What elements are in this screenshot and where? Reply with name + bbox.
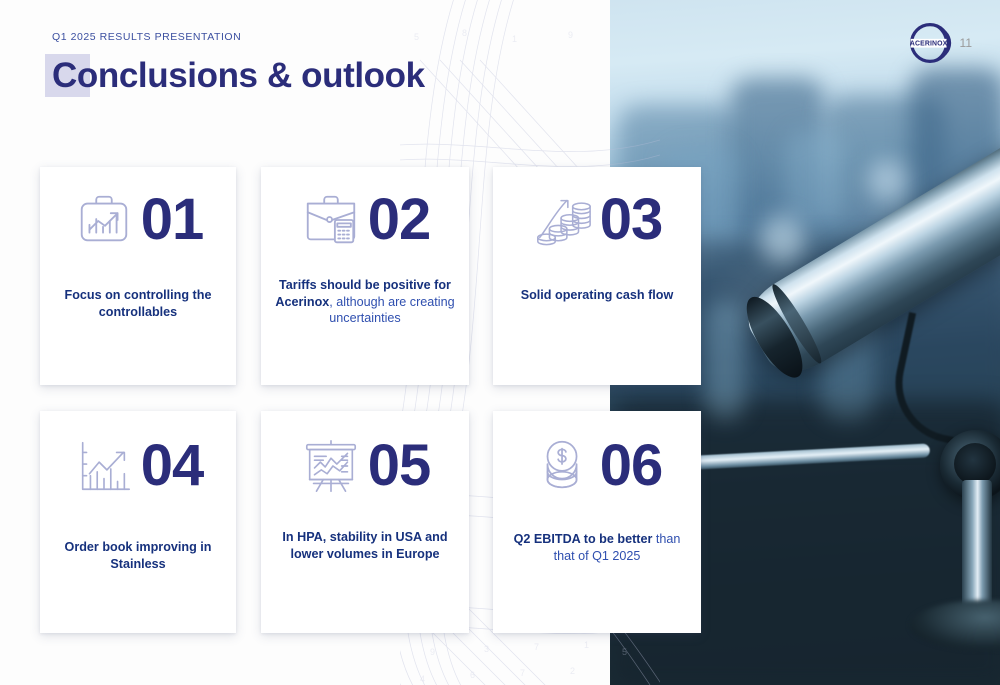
page-title: Conclusions & outlook [52,54,425,97]
slide: 67 34 29 37 15 46 72 58 19 Q1 2025 RESUL… [0,0,1000,685]
svg-text:2: 2 [570,666,575,676]
card-text: Order book improving in Stainless [40,539,236,572]
conclusion-card-04[interactable]: 04 Order book improving in Stainless [40,411,236,633]
brand-logo-group: ACERINOX 11 [907,20,972,66]
card-number: 02 [368,191,431,249]
briefcase-calculator-icon [300,189,362,251]
card-text-regular: , although are creating uncertainties [329,295,454,326]
svg-text:7: 7 [534,642,539,652]
card-number: 06 [600,437,663,495]
card-header: 06 [493,411,701,497]
bar-chart-trend-icon [73,435,135,497]
card-text-bold: Focus on controlling the controllables [65,288,212,319]
card-text: Focus on controlling the controllables [40,287,236,320]
skyline-blob [785,130,845,225]
presentation-screen-icon [300,435,362,497]
card-text-bold: Solid operating cash flow [521,288,674,302]
svg-text:7: 7 [520,668,525,678]
svg-text:3: 3 [484,644,489,654]
telescope-post [962,480,992,620]
card-text: Solid operating cash flow [509,287,686,304]
svg-text:ACERINOX: ACERINOX [909,41,947,48]
svg-text:9: 9 [568,30,573,40]
conclusion-card-05[interactable]: 05 In HPA, stability in USA and lower vo… [261,411,469,633]
card-text: Tariffs should be positive for Acerinox,… [261,277,469,327]
conclusion-card-03[interactable]: 03 Solid operating cash flow [493,167,701,385]
svg-text:8: 8 [462,28,467,38]
bokeh-highlight [760,215,805,263]
svg-text:6: 6 [470,670,475,680]
svg-text:1: 1 [512,34,517,44]
acerinox-logo-icon: ACERINOX [907,20,953,66]
card-number: 05 [368,437,431,495]
bokeh-highlight [868,160,906,200]
conclusion-card-02[interactable]: 02 Tariffs should be positive for Acerin… [261,167,469,385]
conclusion-card-01[interactable]: 01 Focus on controlling the controllable… [40,167,236,385]
card-number: 03 [600,191,663,249]
page-title-wrap: Conclusions & outlook [52,54,425,97]
card-text: Q2 EBITDA to be better than that of Q1 2… [493,531,701,564]
card-number: 04 [141,437,204,495]
card-header: 04 [40,411,236,497]
svg-text:5: 5 [414,32,419,42]
briefcase-chart-icon [73,189,135,251]
coin-stacks-growth-icon [532,189,594,251]
card-header: 03 [493,167,701,251]
card-number: 01 [141,191,204,249]
svg-text:9: 9 [430,647,435,657]
svg-text:4: 4 [420,674,425,684]
card-header: 05 [261,411,469,497]
skyline-blob [705,300,745,420]
card-text-bold: In HPA, stability in USA and lower volum… [282,530,447,561]
card-text-bold: Q2 EBITDA to be better [514,532,653,546]
dollar-coins-icon [532,435,594,497]
svg-text:1: 1 [584,640,589,650]
conclusion-card-06[interactable]: 06 Q2 EBITDA to be better than that of Q… [493,411,701,633]
card-header: 01 [40,167,236,251]
page-number: 11 [960,36,972,50]
card-text-bold: Order book improving in Stainless [65,540,212,571]
card-text: In HPA, stability in USA and lower volum… [261,529,469,562]
eyebrow-label: Q1 2025 RESULTS PRESENTATION [52,31,241,43]
card-header: 02 [261,167,469,251]
